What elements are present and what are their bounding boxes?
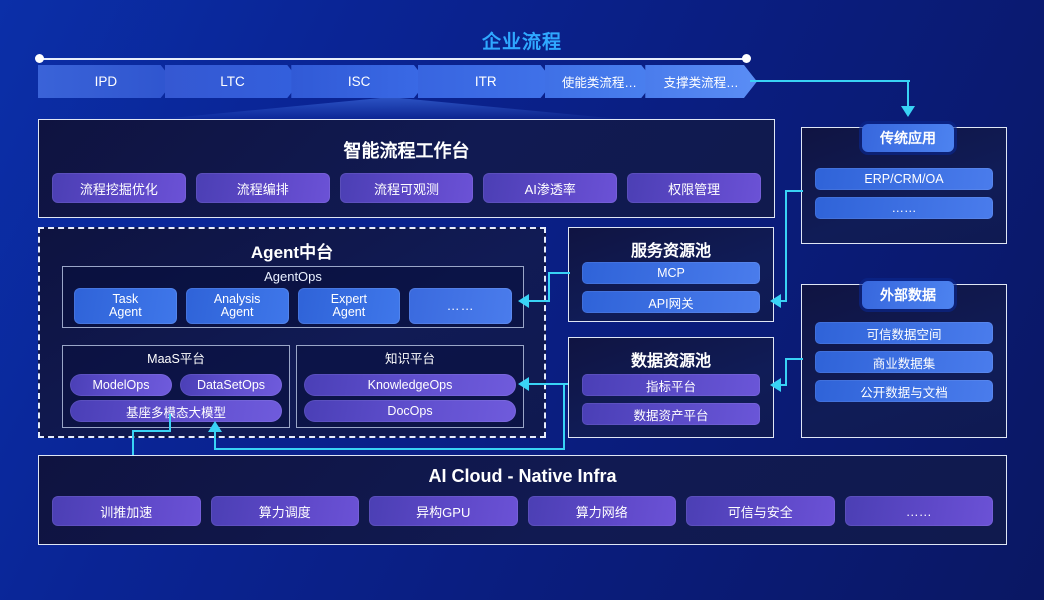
connector-legacy-to-svc-arrow <box>770 294 781 308</box>
process-bar: IPD LTC ISC ITR 使能类流程… 支撑类流程… <box>38 65 748 98</box>
process-step-itr[interactable]: ITR <box>418 65 554 98</box>
process-step-label: ISC <box>348 74 371 89</box>
infra-chip-heterogeneous-gpu[interactable]: 异构GPU <box>369 496 518 526</box>
rail-dot-left <box>35 54 44 63</box>
process-step-enabling[interactable]: 使能类流程… <box>545 65 655 98</box>
process-step-isc[interactable]: ISC <box>291 65 427 98</box>
agentops-label: AgentOps <box>62 269 524 284</box>
page-title: 企业流程 <box>0 27 1044 54</box>
agent-card-task[interactable]: Task Agent <box>74 288 177 324</box>
data-pool-item-list: 指标平台 数据资产平台 <box>582 374 760 432</box>
maas-row-top: ModelOps DataSetOps <box>70 374 282 396</box>
connector-model-to-infra-h <box>132 430 171 432</box>
knowledge-row-bottom: DocOps <box>304 400 516 422</box>
pill-label: 商业数据集 <box>873 353 936 372</box>
external-data-tag: 外部数据 <box>862 281 954 309</box>
legacy-apps-item-more[interactable]: …… <box>815 197 993 219</box>
chip-label: AI渗透率 <box>525 179 576 198</box>
connector-svc-to-agent-v <box>548 272 550 302</box>
process-step-label: LTC <box>220 74 245 89</box>
chip-label: 流程可观测 <box>374 179 439 198</box>
process-rail <box>38 58 748 60</box>
connector-data-loop-v <box>563 383 565 450</box>
chip-label: 训推加速 <box>100 502 152 521</box>
pill-label: DataSetOps <box>197 378 265 392</box>
external-data-item-commercial-dataset[interactable]: 商业数据集 <box>815 351 993 373</box>
process-step-ltc[interactable]: LTC <box>165 65 301 98</box>
knowledge-row-top: KnowledgeOps <box>304 374 516 396</box>
maas-pill-datasetops[interactable]: DataSetOps <box>180 374 282 396</box>
maas-platform-title: MaaS平台 <box>62 348 290 367</box>
workbench-chip-permissions[interactable]: 权限管理 <box>627 173 761 203</box>
connector-external-to-data-h-top <box>785 358 803 360</box>
connector-loop-to-maas-v <box>214 432 216 450</box>
connector-loop-to-maas-arrow <box>208 421 222 432</box>
agent-card-line2: Agent <box>333 306 366 319</box>
agent-card-line2: Agent <box>221 306 254 319</box>
infra-chip-trust-security[interactable]: 可信与安全 <box>686 496 835 526</box>
process-step-label: 支撑类流程… <box>664 72 739 91</box>
connector-external-to-data-h-bot <box>780 384 787 386</box>
pill-label: 公开数据与文档 <box>860 382 948 401</box>
maas-pill-foundation-model[interactable]: 基座多模态大模型 <box>70 400 282 422</box>
service-pool-item-list: MCP API网关 <box>582 262 760 320</box>
workbench-chip-list: 流程挖掘优化 流程编排 流程可观测 AI渗透率 权限管理 <box>52 173 761 203</box>
funnel-glow <box>150 98 630 120</box>
pill-label: 基座多模态大模型 <box>126 402 226 421</box>
workbench-panel <box>38 119 775 218</box>
connector-external-to-data-arrow <box>770 378 781 392</box>
pill-label: ModelOps <box>93 378 150 392</box>
knowledge-platform-title: 知识平台 <box>296 348 524 367</box>
pill-label: 指标平台 <box>646 376 696 395</box>
infra-chip-list: 训推加速 算力调度 异构GPU 算力网络 可信与安全 …… <box>52 496 993 526</box>
workbench-title: 智能流程工作台 <box>38 137 775 163</box>
connector-process-to-legacy-arrow <box>901 106 915 117</box>
agent-card-analysis[interactable]: Analysis Agent <box>186 288 289 324</box>
legacy-apps-tag: 传统应用 <box>862 124 954 152</box>
connector-data-to-knowledge-arrow <box>518 377 529 391</box>
connector-legacy-to-svc-h-top <box>785 190 803 192</box>
chip-label: 流程挖掘优化 <box>80 179 158 198</box>
legacy-apps-item-erp-crm-oa[interactable]: ERP/CRM/OA <box>815 168 993 190</box>
maas-pill-modelops[interactable]: ModelOps <box>70 374 172 396</box>
chip-label: 算力网络 <box>576 502 628 521</box>
legacy-apps-item-list: ERP/CRM/OA …… <box>815 168 993 226</box>
process-step-label: 使能类流程… <box>562 72 637 91</box>
knowledge-pill-knowledgeops[interactable]: KnowledgeOps <box>304 374 516 396</box>
service-pool-item-api-gateway[interactable]: API网关 <box>582 291 760 313</box>
maas-row-bottom: 基座多模态大模型 <box>70 400 282 422</box>
pill-label: MCP <box>657 266 685 280</box>
data-pool-title: 数据资源池 <box>568 347 774 371</box>
knowledge-pill-docops[interactable]: DocOps <box>304 400 516 422</box>
data-pool-item-metrics[interactable]: 指标平台 <box>582 374 760 396</box>
pill-label: ERP/CRM/OA <box>864 172 943 186</box>
agent-card-expert[interactable]: Expert Agent <box>298 288 401 324</box>
infra-chip-compute-network[interactable]: 算力网络 <box>528 496 677 526</box>
pill-label: …… <box>892 201 917 215</box>
connector-svc-to-agent-h-bot <box>528 300 550 302</box>
agent-card-list: Task Agent Analysis Agent Expert Agent …… <box>74 288 512 324</box>
workbench-chip-orchestration[interactable]: 流程编排 <box>196 173 330 203</box>
chip-label: 权限管理 <box>668 179 720 198</box>
chip-label: 算力调度 <box>259 502 311 521</box>
workbench-chip-process-mining[interactable]: 流程挖掘优化 <box>52 173 186 203</box>
chip-label: 流程编排 <box>237 179 289 198</box>
connector-external-to-data-v <box>785 358 787 386</box>
pill-label: DocOps <box>387 404 432 418</box>
data-pool-item-asset-platform[interactable]: 数据资产平台 <box>582 403 760 425</box>
agent-card-more[interactable]: …… <box>409 288 512 324</box>
connector-svc-to-agent-arrow <box>518 294 529 308</box>
pill-label: 数据资产平台 <box>633 405 708 424</box>
pill-label: API网关 <box>648 293 693 312</box>
connector-legacy-to-svc-h-bot <box>780 300 787 302</box>
agent-platform-title: Agent中台 <box>38 238 546 263</box>
rail-dot-right <box>742 54 751 63</box>
chip-label: 可信与安全 <box>728 502 793 521</box>
process-step-label: IPD <box>95 74 118 89</box>
infra-chip-more[interactable]: …… <box>845 496 994 526</box>
service-pool-item-mcp[interactable]: MCP <box>582 262 760 284</box>
workbench-chip-ai-penetration[interactable]: AI渗透率 <box>483 173 617 203</box>
infra-title: AI Cloud - Native Infra <box>38 466 1007 487</box>
process-step-ipd[interactable]: IPD <box>38 65 174 98</box>
agent-card-line2: Agent <box>109 306 142 319</box>
external-data-item-list: 可信数据空间 商业数据集 公开数据与文档 <box>815 322 993 409</box>
external-data-item-public-docs[interactable]: 公开数据与文档 <box>815 380 993 402</box>
connector-data-to-knowledge-h <box>528 383 568 385</box>
connector-svc-to-agent-h-top <box>548 272 570 274</box>
connector-data-loop-h <box>214 448 565 450</box>
external-data-item-trusted-space[interactable]: 可信数据空间 <box>815 322 993 344</box>
process-step-label: ITR <box>475 74 497 89</box>
service-pool-title: 服务资源池 <box>568 237 774 261</box>
infra-chip-training-acceleration[interactable]: 训推加速 <box>52 496 201 526</box>
connector-process-to-legacy-v <box>907 80 909 108</box>
workbench-chip-observability[interactable]: 流程可观测 <box>340 173 474 203</box>
pill-label: 可信数据空间 <box>866 324 941 343</box>
connector-legacy-to-svc-v <box>785 190 787 302</box>
chip-label: 异构GPU <box>416 502 470 521</box>
process-step-supporting[interactable]: 支撑类流程… <box>645 65 757 98</box>
connector-process-to-legacy-h <box>750 80 910 82</box>
pill-label: KnowledgeOps <box>368 378 453 392</box>
diagram-canvas: 企业流程 IPD LTC ISC ITR 使能类流程… 支撑类流程… 智能流程工… <box>0 0 1044 600</box>
infra-chip-compute-scheduling[interactable]: 算力调度 <box>211 496 360 526</box>
agent-card-line1: …… <box>447 299 475 313</box>
chip-label: …… <box>906 504 932 519</box>
